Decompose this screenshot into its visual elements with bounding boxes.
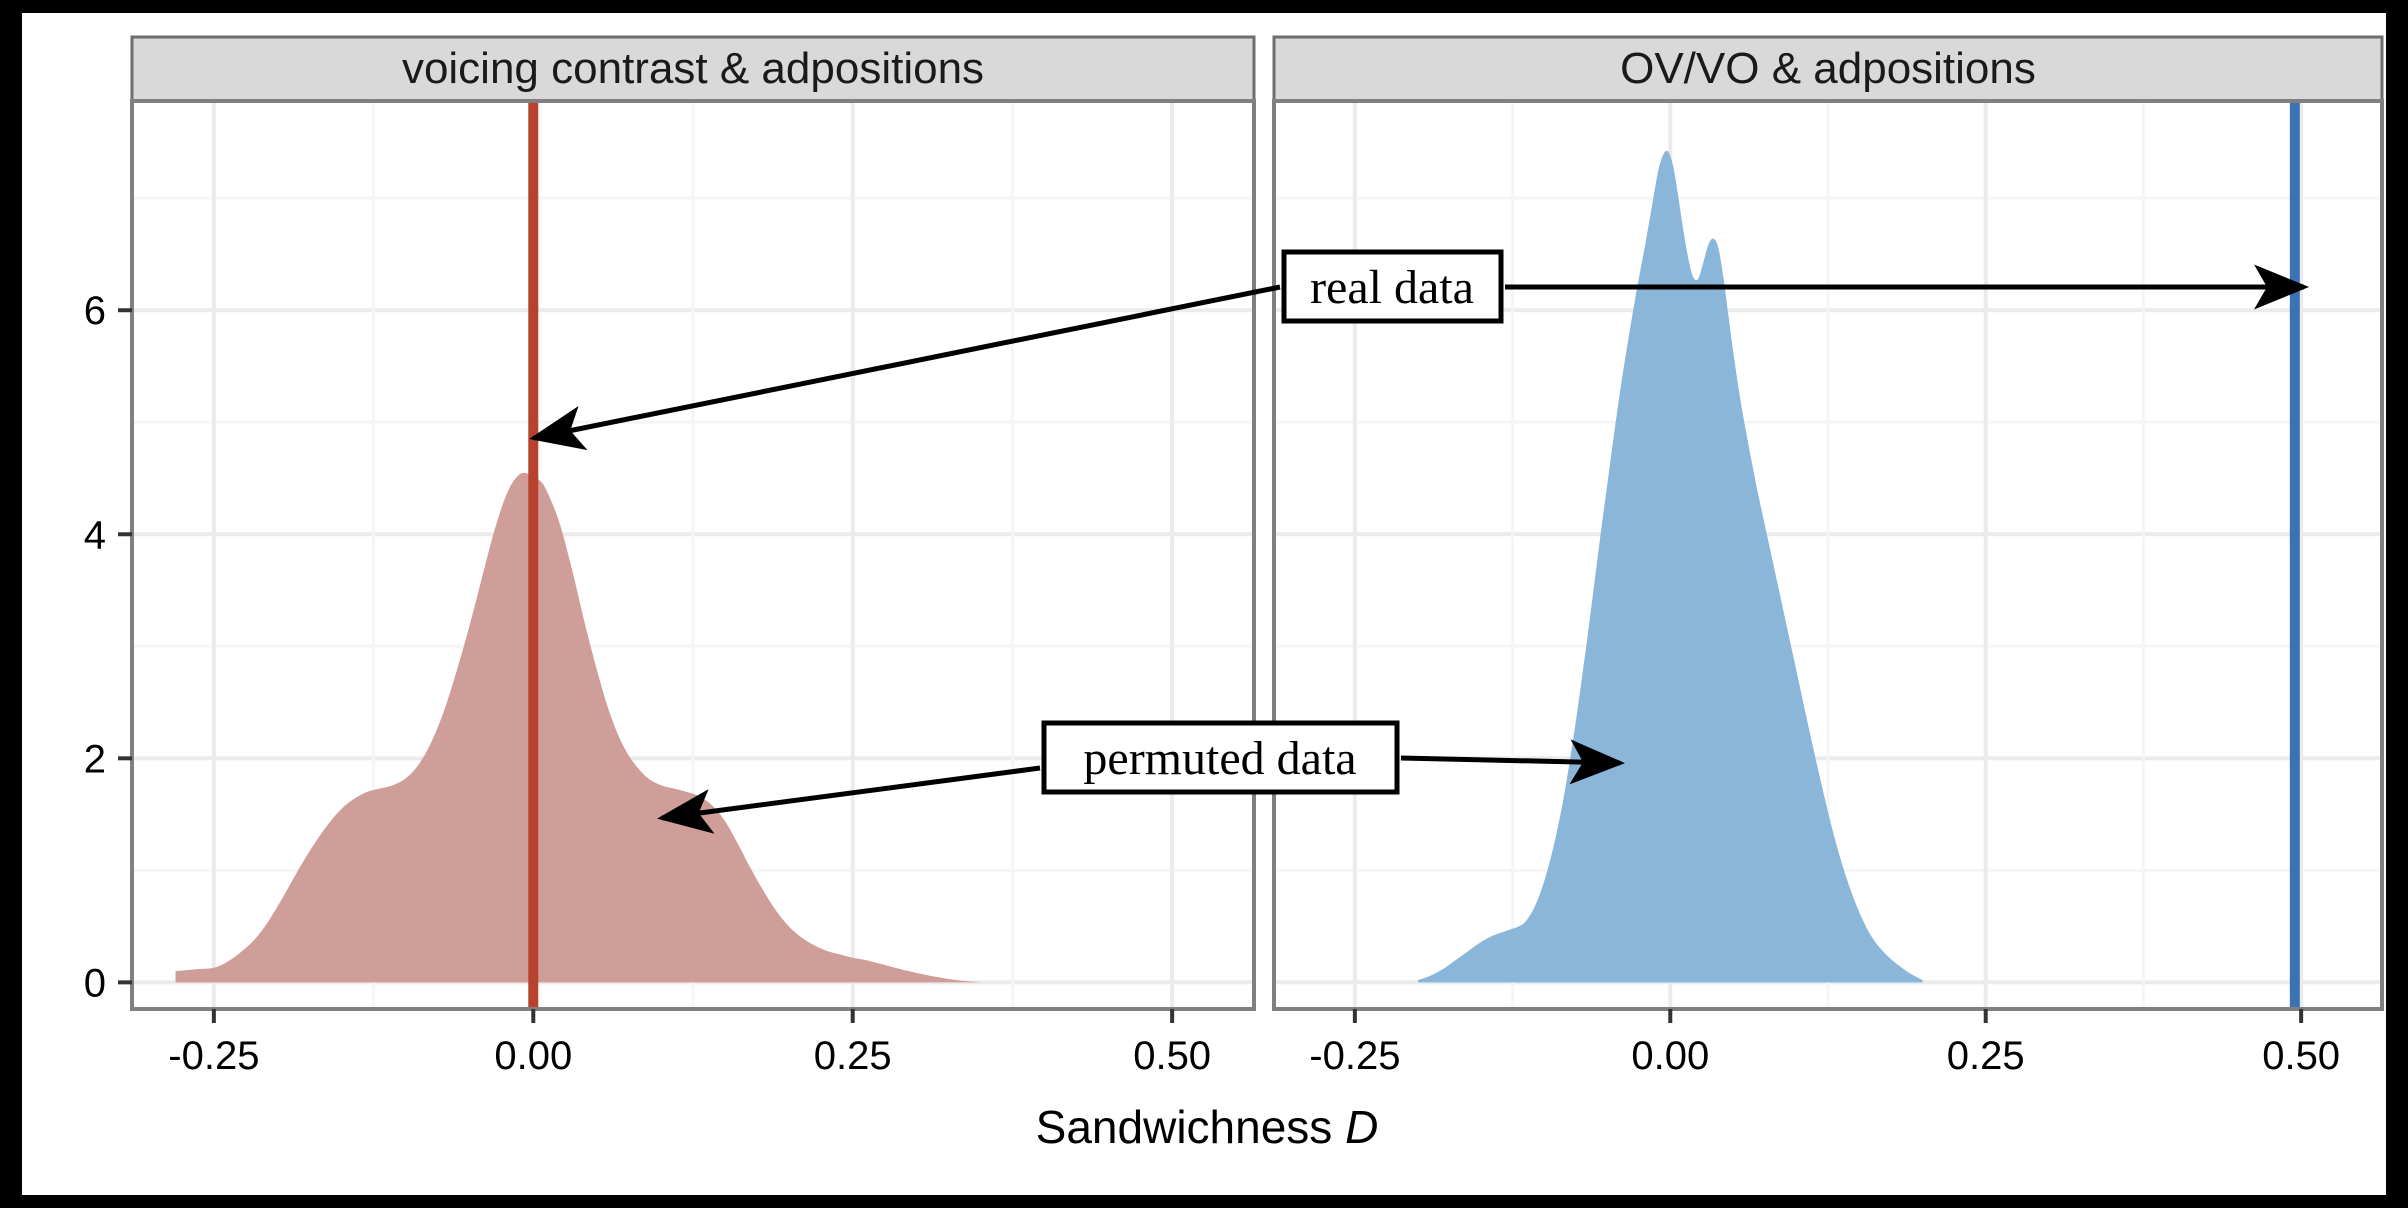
y-tick-label: 0 xyxy=(84,961,106,1005)
y-tick-label: 6 xyxy=(84,289,106,333)
x-tick-label: 0.00 xyxy=(1631,1034,1709,1078)
panel-ovvo-x-axis: -0.250.000.250.50 xyxy=(1309,1009,2340,1078)
facet-density-plot: voicing contrast & adpositions -0.250.00… xyxy=(22,13,2386,1195)
x-axis-title-main: Sandwichness xyxy=(1036,1101,1333,1153)
y-axis: 0246 xyxy=(84,289,132,1005)
panel-voicing-group: voicing contrast & adpositions -0.250.00… xyxy=(132,37,1254,1078)
x-tick-label: -0.25 xyxy=(1309,1034,1400,1078)
x-tick-label: 0.25 xyxy=(1947,1034,2025,1078)
x-axis-title-symbol: D xyxy=(1345,1101,1378,1153)
real-data-label: real data xyxy=(1310,261,1474,314)
y-tick-label: 2 xyxy=(84,737,106,781)
panel-voicing-x-axis: -0.250.000.250.50 xyxy=(168,1009,1211,1078)
x-axis-title: Sandwichness D xyxy=(1036,1101,1379,1153)
x-tick-label: 0.25 xyxy=(814,1034,892,1078)
panel-ovvo-group: OV/VO & adpositions -0.250.000.250.50 xyxy=(1274,37,2382,1078)
panel-voicing-strip-label: voicing contrast & adpositions xyxy=(402,44,984,93)
x-tick-label: 0.50 xyxy=(1133,1034,1211,1078)
panel-ovvo-strip-label: OV/VO & adpositions xyxy=(1620,44,2036,93)
x-tick-label: -0.25 xyxy=(168,1034,259,1078)
plot-canvas: voicing contrast & adpositions -0.250.00… xyxy=(22,13,2386,1195)
x-tick-label: 0.50 xyxy=(2262,1034,2340,1078)
permuted-data-label: permuted data xyxy=(1083,732,1356,785)
figure-root: voicing contrast & adpositions -0.250.00… xyxy=(0,0,2408,1208)
y-tick-label: 4 xyxy=(84,513,106,557)
x-tick-label: 0.00 xyxy=(494,1034,572,1078)
